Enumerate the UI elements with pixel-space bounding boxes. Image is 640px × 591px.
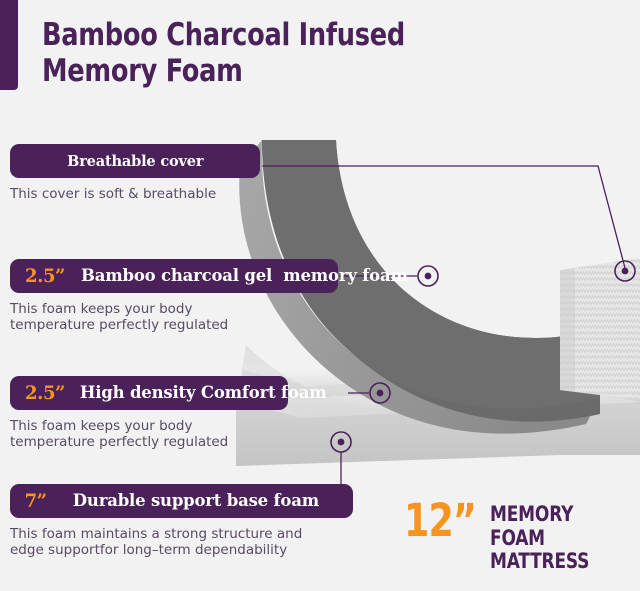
callout-bamboo-charcoal-gel-memory-foam: 2.5” Bamboo charcoal gel memory foam Thi… [10,259,350,334]
marker-bamboo-charcoal [418,266,438,286]
badge-durable-support-base-foam[interactable]: 7” Durable support base foam [10,484,353,518]
badge-thickness: 2.5” [25,265,65,287]
callout-high-density-comfort-foam: 2.5” High density Comfort foam This foam… [10,376,350,451]
callout-description: This foam maintains a strong structure a… [10,526,370,559]
badge-high-density-comfort-foam[interactable]: 2.5” High density Comfort foam [10,376,288,410]
badge-label: High density Comfort foam [80,383,327,403]
infographic-canvas: Bamboo Charcoal Infused Memory Foam Brea… [0,0,640,591]
product-spec: 12” MEMORY FOAM MATTRESS [404,500,640,574]
badge-label: Durable support base foam [73,491,319,511]
badge-thickness: 2.5” [25,382,65,404]
badge-label: Bamboo charcoal gel memory foam [81,266,408,286]
header-accent-bar [0,0,18,90]
callout-description: This foam keeps your body temperature pe… [10,418,350,451]
badge-thickness: 7” [25,490,47,512]
callout-description: This cover is soft & breathable [10,186,300,202]
badge-breathable-cover[interactable]: Breathable cover [10,144,260,178]
spec-thickness: 12” [404,500,476,543]
layer-cover-knit-panel [560,258,640,400]
spec-product-name: MEMORY FOAM MATTRESS [490,500,625,574]
badge-bamboo-charcoal-gel-memory-foam[interactable]: 2.5” Bamboo charcoal gel memory foam [10,259,338,293]
badge-label: Breathable cover [67,152,203,170]
callout-breathable-cover: Breathable cover This cover is soft & br… [10,144,300,202]
page-title: Bamboo Charcoal Infused Memory Foam [42,18,502,90]
callout-durable-support-base-foam: 7” Durable support base foam This foam m… [10,484,370,559]
callout-description: This foam keeps your body temperature pe… [10,301,350,334]
